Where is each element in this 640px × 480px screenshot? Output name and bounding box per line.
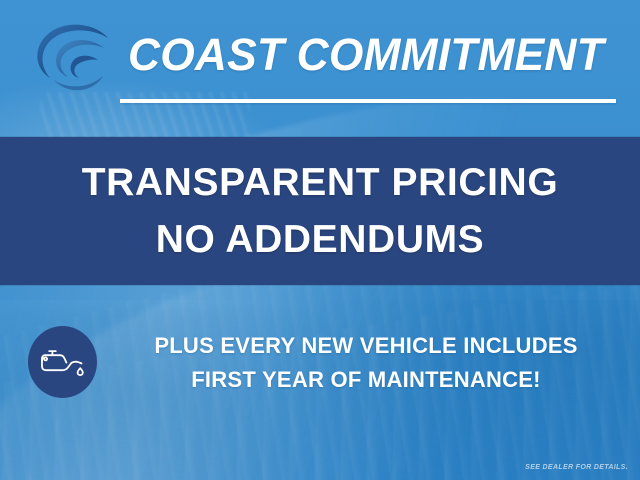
- promo-line-2: FIRST YEAR OF MAINTENANCE!: [191, 369, 541, 391]
- coast-commitment-banner: COAST COMMITMENT TRANSPARENT PRICING NO …: [0, 0, 640, 480]
- headline-band: TRANSPARENT PRICING NO ADDENDUMS: [0, 137, 640, 285]
- headline-line-2: NO ADDENDUMS: [156, 220, 485, 259]
- promo-row: PLUS EVERY NEW VEHICLE INCLUDES FIRST YE…: [0, 322, 640, 404]
- brand-title: COAST COMMITMENT: [128, 24, 611, 86]
- promo-line-1: PLUS EVERY NEW VEHICLE INCLUDES: [154, 335, 577, 357]
- header-divider: [120, 99, 616, 103]
- banner-header: COAST COMMITMENT: [0, 0, 640, 137]
- oil-can-icon: [28, 326, 97, 398]
- coast-wave-logo-icon: [24, 16, 120, 96]
- headline-line-1: TRANSPARENT PRICING: [82, 163, 559, 202]
- promo-text-block: PLUS EVERY NEW VEHICLE INCLUDES FIRST YE…: [108, 322, 624, 404]
- disclaimer-text: SEE DEALER FOR DETAILS.: [525, 464, 628, 471]
